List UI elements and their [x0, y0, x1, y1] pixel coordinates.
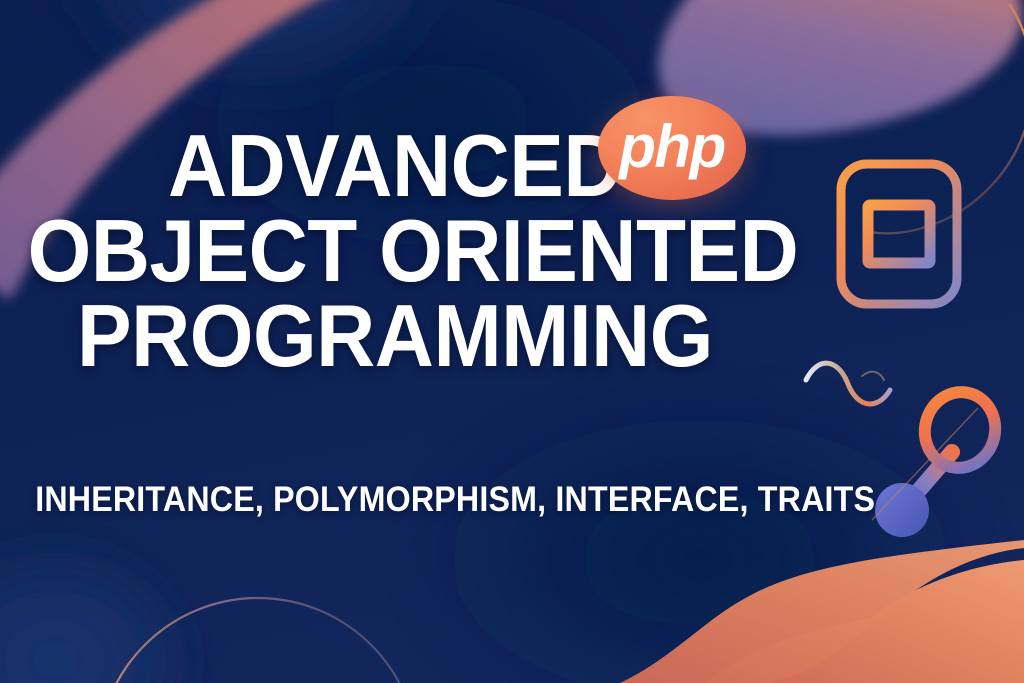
bottom-right-blob-lobe	[620, 540, 1024, 683]
wave-squiggle	[806, 363, 890, 404]
small-arc-above-ring	[862, 372, 884, 380]
tonal-blob-light-topleft	[65, 0, 445, 90]
bottom-left-thin-arc	[98, 598, 418, 683]
php-oop-banner: ADVANCED OBJECT ORIENTED PROGRAMMING INH…	[0, 0, 1024, 683]
tonal-blob-light-mid	[400, 390, 1000, 683]
php-logo: php	[598, 96, 746, 200]
bottom-right-blob	[705, 570, 1024, 683]
bottom-left-soft-blob	[0, 535, 205, 683]
ring-and-node-icon	[875, 385, 1003, 537]
php-logo-wordmark: php	[598, 96, 746, 200]
top-right-thin-arc	[870, 5, 1024, 233]
title-line-object-oriented: OBJECT ORIENTED	[28, 211, 763, 290]
title-line-programming: PROGRAMMING	[28, 296, 763, 375]
square-in-square-icon	[841, 164, 957, 304]
subtitle-text: INHERITANCE, POLYMORPHISM, INTERFACE, TR…	[35, 480, 845, 520]
diagonal-streak	[872, 408, 978, 520]
bottom-right-blob-wave	[740, 560, 1024, 683]
